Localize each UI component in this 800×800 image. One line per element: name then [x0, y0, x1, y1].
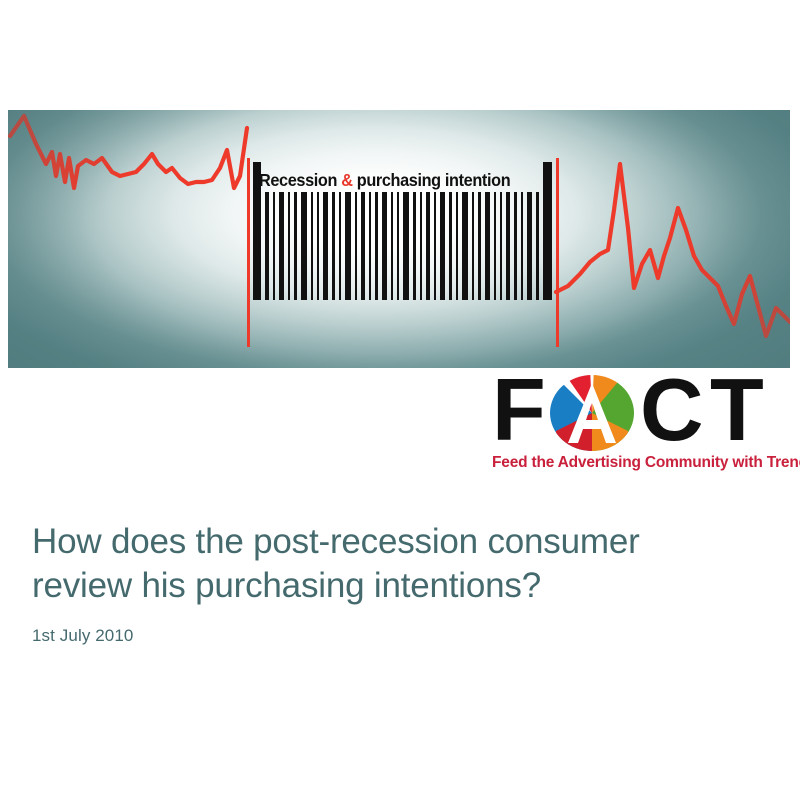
fact-letter-t: T — [710, 366, 762, 454]
barcode-title-suffix: purchasing intention — [353, 170, 511, 190]
barcode-bars — [247, 192, 564, 300]
fact-tagline: Feed the Advertising Community with Tren… — [492, 454, 800, 472]
page-title-line-2: review his purchasing intentions? — [32, 566, 541, 605]
title-block: How does the post-recession consumerrevi… — [32, 520, 772, 646]
page-title: How does the post-recession consumerrevi… — [32, 520, 772, 608]
barcode-title-prefix: Recession — [259, 170, 341, 190]
fact-logo: F — [492, 372, 792, 476]
hero-banner: Recession & purchasing intention — [8, 110, 790, 368]
barcode-title-ampersand: & — [341, 170, 352, 190]
page-title-line-1: How does the post-recession consumer — [32, 522, 640, 561]
trend-line-right-path — [556, 164, 790, 336]
fact-letter-f: F — [492, 366, 544, 454]
fact-letter-c: C — [640, 366, 702, 454]
fact-letter-a-icon — [550, 375, 634, 451]
fact-wordmark: F — [492, 372, 792, 452]
trend-line-left-path — [10, 116, 247, 188]
page-date: 1st July 2010 — [32, 626, 772, 646]
barcode-graphic: Recession & purchasing intention — [247, 162, 564, 347]
barcode-title-text: Recession & purchasing intention — [259, 172, 510, 190]
